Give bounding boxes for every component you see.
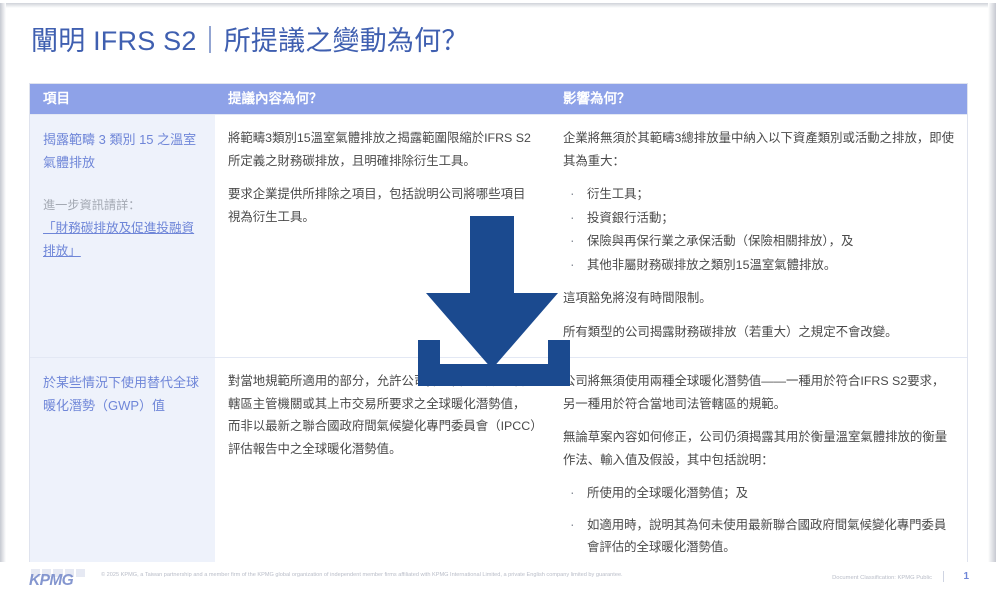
row1-note-link[interactable]: 「財務碳排放及促進投融資排放」 [43, 217, 202, 263]
row1-impact-after-1: 這項豁免將沒有時間限制。 [563, 287, 956, 310]
footer-copyright: © 2025 KPMG, a Taiwan partnership and a … [101, 571, 661, 579]
list-item: 投資銀行活動； [563, 207, 956, 230]
table-row: 揭露範疇 3 類別 15 之溫室氣體排放 進一步資訊請詳： 「財務碳排放及促進投… [30, 114, 967, 357]
row1-impact-intro: 企業將無須於其範疇3總排放量中納入以下資產類別或活動之排放，即使其為重大： [563, 127, 956, 172]
row1-impact-cell: 企業將無須於其範疇3總排放量中納入以下資產類別或活動之排放，即使其為重大： 衍生… [550, 115, 969, 357]
kpmg-logo-text: KPMG [29, 572, 87, 590]
row1-item-title: 揭露範疇 3 類別 15 之溫室氣體排放 [43, 128, 202, 174]
row1-item-cell: 揭露範疇 3 類別 15 之溫室氣體排放 進一步資訊請詳： 「財務碳排放及促進投… [30, 115, 215, 357]
page-edge-left [0, 3, 6, 610]
table-header-item: 項目 [30, 84, 215, 114]
list-item: 衍生工具； [563, 183, 956, 206]
row1-proposal-cell: 將範疇3類別15溫室氣體排放之揭露範圍限縮於IFRS S2所定義之財務碳排放，且… [215, 115, 550, 357]
comparison-table: 項目 提議內容為何？ 影響為何？ 揭露範疇 3 類別 15 之溫室氣體排放 進一… [29, 83, 968, 610]
row1-proposal-para-1: 將範疇3類別15溫室氣體排放之揭露範圍限縮於IFRS S2所定義之財務碳排放，且… [228, 127, 537, 172]
kpmg-logo: KPMG [29, 569, 87, 588]
row2-proposal-para-1: 對當地規範所適用的部分，允許公司採用當地法規、管轄區主管機關或其上市交易所要求之… [228, 370, 537, 460]
table-header-impact: 影響為何？ [550, 84, 969, 114]
list-item: 如適用時，說明其為何未使用最新聯合國政府間氣候變化專門委員會評估的全球暖化潛勢值… [563, 514, 956, 559]
row1-proposal-para-2: 要求企業提供所排除之項目，包括說明公司將哪些項目視為衍生工具。 [228, 183, 537, 228]
footer-divider [943, 571, 944, 582]
list-item: 其他非屬財務碳排放之類別15溫室氣體排放。 [563, 254, 956, 277]
slide: 闡明 IFRS S2｜所提議之變動為何？ 項目 提議內容為何？ 影響為何？ 揭露… [0, 0, 996, 610]
table-header-row: 項目 提議內容為何？ 影響為何？ [30, 84, 967, 114]
footer-document-classification: Document Classification: KPMG Public [832, 575, 932, 581]
row2-impact-intro-2: 無論草案內容如何修正，公司仍須揭露其用於衡量溫室氣體排放的衡量作法、輸入值及假設… [563, 426, 956, 471]
list-item: 保險與再保行業之承保活動（保險相關排放），及 [563, 230, 956, 253]
row1-impact-after-2: 所有類型的公司揭露財務碳排放（若重大）之規定不會改變。 [563, 321, 956, 344]
list-item: 所使用的全球暖化潛勢值；及 [563, 482, 956, 505]
page-edge-top [0, 3, 996, 8]
slide-footer [0, 562, 996, 610]
footer-page-number: 1 [963, 571, 969, 582]
page-edge-right [988, 3, 996, 610]
row1-impact-bullets: 衍生工具； 投資銀行活動； 保險與再保行業之承保活動（保險相關排放），及 其他非… [563, 183, 956, 276]
row2-item-title: 於某些情況下使用替代全球暖化潛勢（GWP）值 [43, 371, 202, 417]
slide-title: 闡明 IFRS S2｜所提議之變動為何？ [31, 24, 469, 58]
table-header-proposal: 提議內容為何？ [215, 84, 550, 114]
row2-impact-intro: 公司將無須使用兩種全球暖化潛勢值——一種用於符合IFRS S2要求，另一種用於符… [563, 370, 956, 415]
row1-note-label: 進一步資訊請詳： [43, 194, 202, 217]
row2-impact-bullets: 所使用的全球暖化潛勢值；及 如適用時，說明其為何未使用最新聯合國政府間氣候變化專… [563, 482, 956, 559]
